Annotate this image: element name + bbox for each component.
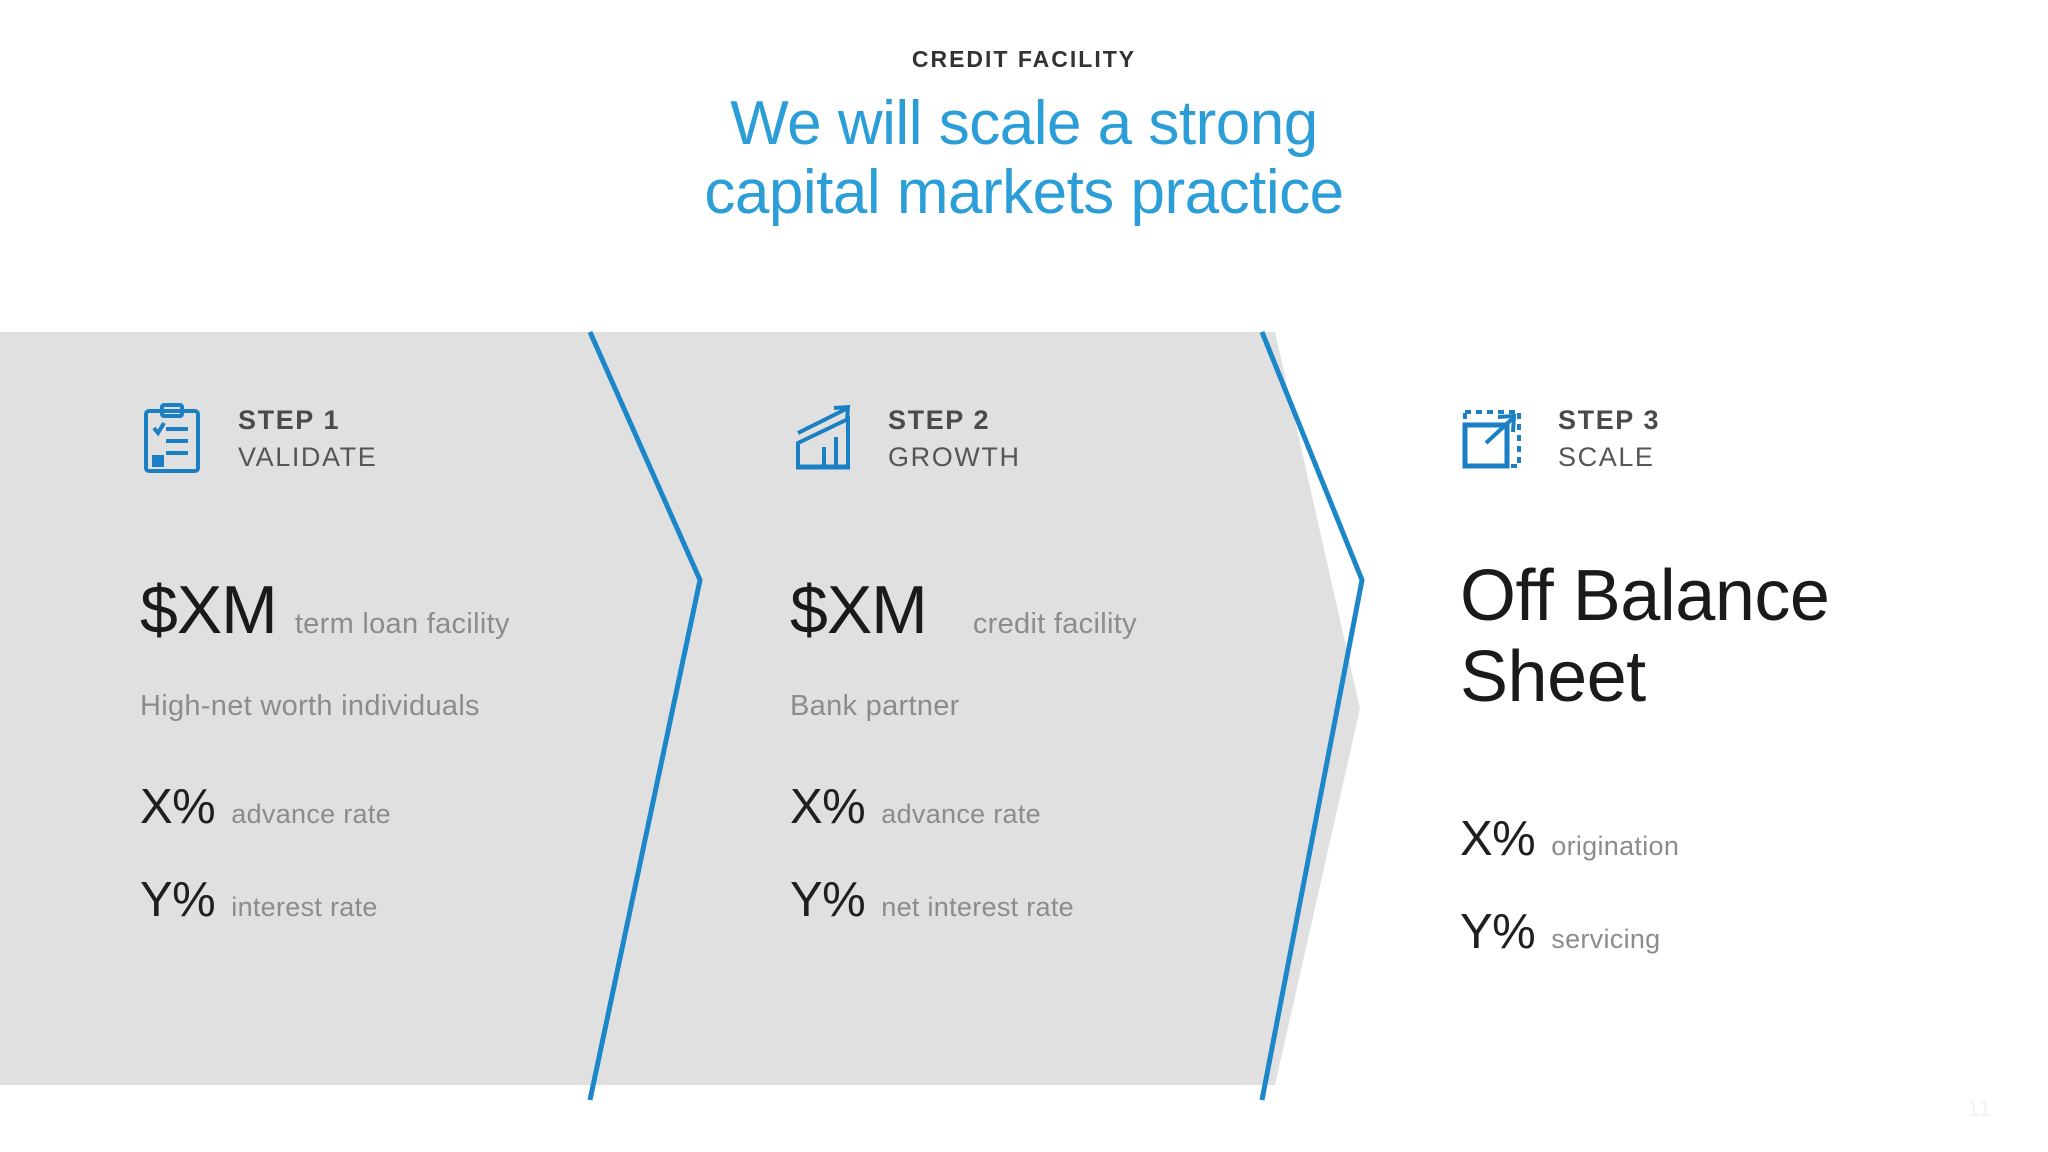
step-1-number: STEP 1 [238,402,377,439]
step-1-header: STEP 1 VALIDATE [140,394,570,484]
step-2-value-caption: credit facility [973,608,1137,641]
step-3-number: STEP 3 [1558,402,1660,439]
step-3-headline-line-1: Off Balance [1460,556,1960,637]
growth-chart-icon [790,403,854,475]
step-2-rate-2-caption: net interest rate [881,892,1074,923]
step-1-rate-row-1: X% advance rate [140,783,570,832]
page-number: 11 [1967,1096,1992,1122]
page-title-line-1: We will scale a strong [0,89,2048,158]
step-1-rate-row-2: Y% interest rate [140,876,570,925]
step-2-subline: Bank partner [790,690,1220,723]
step-3-name: SCALE [1558,439,1660,476]
step-2-value-row: $XM credit facility [790,576,1220,644]
step-3-rate-2-caption: servicing [1551,924,1660,955]
slide-header: CREDIT FACILITY We will scale a strong c… [0,0,2048,228]
step-1-value-row: $XM term loan facility [140,576,570,644]
page-title-line-2: capital markets practice [0,158,2048,227]
scale-expand-icon [1460,403,1524,475]
step-1-subline: High-net worth individuals [140,690,570,723]
step-3-headline: Off Balance Sheet [1460,556,1960,719]
step-3-rate-1-caption: origination [1551,831,1679,862]
step-1-rate-1-value: X% [140,783,215,832]
step-2-rate-2-value: Y% [790,876,865,925]
step-1-rate-2-caption: interest rate [231,892,377,923]
step-1-labels: STEP 1 VALIDATE [238,402,377,475]
step-2-rate-row-2: Y% net interest rate [790,876,1220,925]
step-2-value: $XM [790,576,927,644]
step-2-header: STEP 2 GROWTH [790,394,1220,484]
step-2-rate-1-caption: advance rate [881,799,1041,830]
step-3-header: STEP 3 SCALE [1460,394,1960,484]
column-step-2: STEP 2 GROWTH $XM credit facility Bank p… [790,332,1220,1085]
step-1-value: $XM [140,576,277,644]
step-1-rate-2-value: Y% [140,876,215,925]
step-3-rate-row-2: Y% servicing [1460,908,1960,957]
step-2-rate-1-value: X% [790,783,865,832]
column-step-3: STEP 3 SCALE Off Balance Sheet X% origin… [1460,332,1960,1085]
eyebrow-label: CREDIT FACILITY [0,48,2048,71]
step-2-name: GROWTH [888,439,1021,476]
step-2-number: STEP 2 [888,402,1021,439]
step-1-rate-1-caption: advance rate [231,799,391,830]
step-2-rate-row-1: X% advance rate [790,783,1220,832]
step-3-labels: STEP 3 SCALE [1558,402,1660,475]
step-2-labels: STEP 2 GROWTH [888,402,1021,475]
step-3-rate-2-value: Y% [1460,908,1535,957]
step-3-rate-row-1: X% origination [1460,815,1960,864]
step-1-value-caption: term loan facility [295,608,510,641]
page-title: We will scale a strong capital markets p… [0,89,2048,228]
step-3-rate-1-value: X% [1460,815,1535,864]
step-1-name: VALIDATE [238,439,377,476]
clipboard-checklist-icon [140,403,204,475]
column-step-1: STEP 1 VALIDATE $XM term loan facility H… [140,332,570,1085]
step-3-headline-line-2: Sheet [1460,637,1960,718]
